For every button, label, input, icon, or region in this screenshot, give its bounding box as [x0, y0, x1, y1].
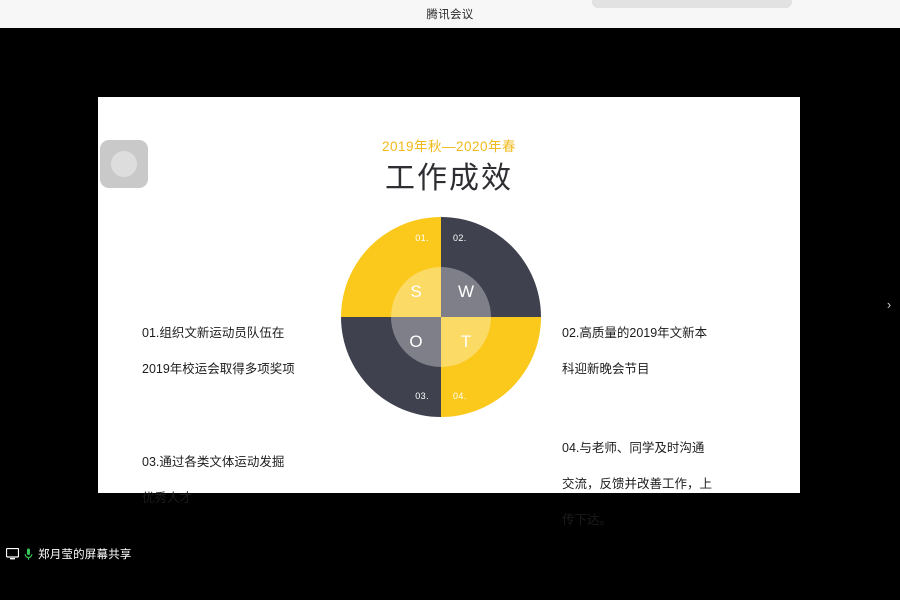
text-line: 优秀人才 — [142, 480, 284, 516]
window-titlebar: 腾讯会议 — [0, 0, 900, 29]
text-line: 传下达。 — [562, 502, 712, 538]
text-line: 01.组织文新运动员队伍在 — [142, 315, 295, 351]
shared-screen-stage: 2019年秋—2020年春 工作成效 01.组织文新运动员队伍在 2019年校运… — [0, 28, 900, 600]
swot-letter-o: O — [391, 317, 441, 367]
slide-text-block-01: 01.组织文新运动员队伍在 2019年校运会取得多项奖项 — [142, 315, 295, 387]
presentation-slide: 2019年秋—2020年春 工作成效 01.组织文新运动员队伍在 2019年校运… — [98, 97, 800, 493]
swot-inner-circle: S W O T — [391, 267, 491, 367]
screen-share-label: 郑月莹的屏幕共享 — [38, 546, 132, 562]
swot-letter-s: S — [391, 267, 441, 317]
swot-letter-t: T — [441, 317, 491, 367]
swot-quadrant-number: 04. — [453, 391, 467, 401]
slide-text-block-04: 04.与老师、同学及时沟通 交流，反馈并改善工作，上 传下达。 — [562, 430, 712, 538]
slide-text-block-02: 02.高质量的2019年文新本 科迎新晚会节目 — [562, 315, 707, 387]
slide-text-block-03: 03.通过各类文体运动发掘 优秀人才 — [142, 444, 284, 516]
slide-title: 工作成效 — [98, 153, 800, 197]
screen-share-indicator: 郑月莹的屏幕共享 — [0, 544, 132, 564]
swot-quadrant-number: 02. — [453, 233, 467, 243]
text-line: 03.通过各类文体运动发掘 — [142, 444, 284, 480]
microphone-icon — [24, 548, 33, 561]
swot-quadrant-number: 03. — [415, 391, 429, 401]
slide-subtitle: 2019年秋—2020年春 — [98, 135, 800, 155]
expand-panel-chevron-right-icon[interactable]: › — [882, 295, 896, 313]
text-line: 科迎新晚会节目 — [562, 351, 707, 387]
titlebar-pill-decoration — [592, 0, 792, 8]
swot-quadrant-number: 01. — [415, 233, 429, 243]
text-line: 02.高质量的2019年文新本 — [562, 315, 707, 351]
text-line: 2019年校运会取得多项奖项 — [142, 351, 295, 387]
swot-diagram: 01. 02. 03. 04. S W O T — [341, 217, 541, 417]
text-line: 04.与老师、同学及时沟通 — [562, 430, 712, 466]
app-title: 腾讯会议 — [426, 6, 473, 22]
text-line: 交流，反馈并改善工作，上 — [562, 466, 712, 502]
swot-letter-w: W — [441, 267, 491, 317]
screen-share-icon — [6, 548, 19, 560]
